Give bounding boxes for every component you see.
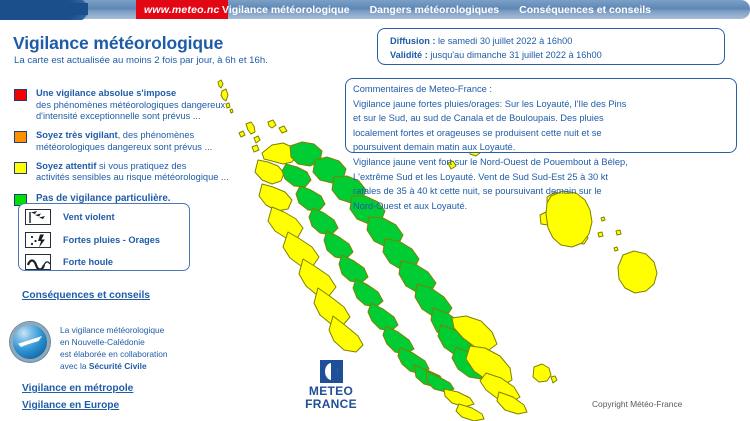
map-region-mare bbox=[618, 251, 657, 293]
meteo-france-logo-icon bbox=[320, 360, 343, 383]
comments-line-5: Vigilance jaune vent fort sur le Nord-Ou… bbox=[353, 155, 743, 170]
diffusion-validity-box: Diffusion : le samedi 30 juillet 2022 à … bbox=[377, 28, 725, 65]
phenomena-label-forte-houle: Forte houle bbox=[63, 257, 113, 267]
comments-content: Commentaires de Meteo-France : Vigilance… bbox=[353, 82, 743, 213]
map-islets-loyaute bbox=[598, 217, 621, 251]
comments-title: Commentaires de Meteo-France : bbox=[353, 82, 743, 97]
meteo-france-logo-line1: METEO bbox=[302, 385, 360, 398]
phenomena-label-vent-violent: Vent violent bbox=[63, 212, 115, 222]
diffusion-label: Diffusion : bbox=[390, 36, 435, 46]
legend-desc-orange-line1: météorologiques dangereux sont prévus ..… bbox=[36, 142, 212, 152]
securite-civile-block: La vigilance météorologique en Nouvelle-… bbox=[10, 322, 168, 373]
heavy-rain-thunderstorm-icon bbox=[25, 232, 51, 248]
legend-desc-yellow-line1: activités sensibles au risque météorolog… bbox=[36, 172, 229, 182]
map-region-ile-des-pins bbox=[533, 364, 557, 383]
copyright-text: Copyright Météo-France bbox=[592, 399, 682, 409]
link-vigilance-en-metropole[interactable]: Vigilance en métropole bbox=[22, 383, 133, 394]
phenomena-legend-box: Vent violent Fortes pluies - Orages Fort… bbox=[18, 203, 190, 271]
legend-desc-red-line2: d'intensité exceptionnelle sont prévus .… bbox=[36, 111, 201, 121]
meteo-france-logo-line2: FRANCE bbox=[302, 398, 360, 411]
validity-value: jusqu'au dimanche 31 juillet 2022 à 16h0… bbox=[430, 50, 601, 60]
securite-civile-line1: La vigilance météorologique bbox=[60, 325, 164, 335]
nav-item-vigilance-meteorologique[interactable]: Vigilance météorologique bbox=[222, 4, 350, 16]
phenomena-row-forte-houle: Forte houle bbox=[19, 251, 189, 274]
heavy-swell-icon bbox=[25, 254, 51, 270]
page-title: Vigilance météorologique bbox=[13, 33, 223, 54]
legend-row-orange: Soyez très vigilant, des phénomènes mété… bbox=[14, 130, 264, 153]
legend-label-red: Une vigilance absolue s'impose bbox=[36, 88, 176, 98]
securite-civile-line2: en Nouvelle-Calédonie bbox=[60, 337, 145, 347]
comments-line-7: rafales de 35 à 40 kt cette nuit, se pou… bbox=[353, 184, 743, 199]
comments-line-6: L'extrême Sud et les Loyauté. Vent de Su… bbox=[353, 170, 743, 185]
topbar: www.meteo.nc Vigilance météorologique Da… bbox=[0, 0, 750, 20]
phenomena-row-vent-violent: Vent violent bbox=[19, 206, 189, 229]
orange-square-icon bbox=[14, 131, 27, 143]
securite-civile-wing-shape bbox=[18, 336, 42, 347]
comments-line-8: Nord-Ouest et aux Loyauté. bbox=[353, 199, 743, 214]
brand-tab-meteo-nc[interactable]: www.meteo.nc bbox=[136, 0, 228, 19]
yellow-square-icon bbox=[14, 162, 27, 174]
vigilance-level-legend: Une vigilance absolue s'impose des phéno… bbox=[14, 88, 264, 213]
securite-civile-line4-strong: Sécurité Civile bbox=[89, 361, 147, 371]
wind-barb-icon bbox=[25, 209, 51, 225]
legend-label-orange-rest: , des phénomènes bbox=[118, 130, 195, 140]
legend-label-yellow-rest: si vous pratiquez des bbox=[96, 161, 186, 171]
comments-line-1: Vigilance jaune fortes pluies/orages: Su… bbox=[353, 97, 743, 112]
securite-civile-line3: est élaborée en collaboration bbox=[60, 349, 168, 359]
comments-line-2: et sur le Sud, au sud de Canala et de Bo… bbox=[353, 111, 743, 126]
main-navigation: Vigilance météorologique Dangers météoro… bbox=[216, 0, 651, 19]
site-logo-icon bbox=[0, 0, 88, 20]
nav-item-dangers-meteorologiques[interactable]: Dangers météorologiques bbox=[370, 4, 500, 16]
red-square-icon bbox=[14, 89, 27, 101]
link-consequences-et-conseils[interactable]: Conséquences et conseils bbox=[22, 290, 150, 301]
meteo-france-logo: METEO FRANCE bbox=[302, 360, 360, 411]
legend-label-yellow: Soyez attentif bbox=[36, 161, 96, 171]
legend-label-orange: Soyez très vigilant bbox=[36, 130, 118, 140]
link-vigilance-en-europe[interactable]: Vigilance en Europe bbox=[22, 400, 119, 411]
securite-civile-badge-icon bbox=[10, 322, 50, 362]
phenomena-row-fortes-pluies-orages: Fortes pluies - Orages bbox=[19, 229, 189, 252]
nav-item-consequences-et-conseils[interactable]: Conséquences et conseils bbox=[519, 4, 651, 16]
legend-row-red: Une vigilance absolue s'impose des phéno… bbox=[14, 88, 264, 123]
securite-civile-line4-prefix: avec la bbox=[60, 361, 89, 371]
comments-line-4: poursuivent demain matin aux Loyauté. bbox=[353, 140, 743, 155]
legend-row-yellow: Soyez attentif si vous pratiquez des act… bbox=[14, 161, 264, 184]
page-subtitle: La carte est actualisée au moins 2 fois … bbox=[14, 55, 268, 66]
diffusion-value: le samedi 30 juillet 2022 à 16h00 bbox=[438, 36, 572, 46]
legend-desc-red-line1: des phénomènes météorologiques dangereux bbox=[36, 100, 225, 110]
phenomena-label-fortes-pluies-orages: Fortes pluies - Orages bbox=[63, 235, 160, 245]
comments-line-3: localement fortes et orageuses se produi… bbox=[353, 126, 743, 141]
validity-label: Validité : bbox=[390, 50, 428, 60]
